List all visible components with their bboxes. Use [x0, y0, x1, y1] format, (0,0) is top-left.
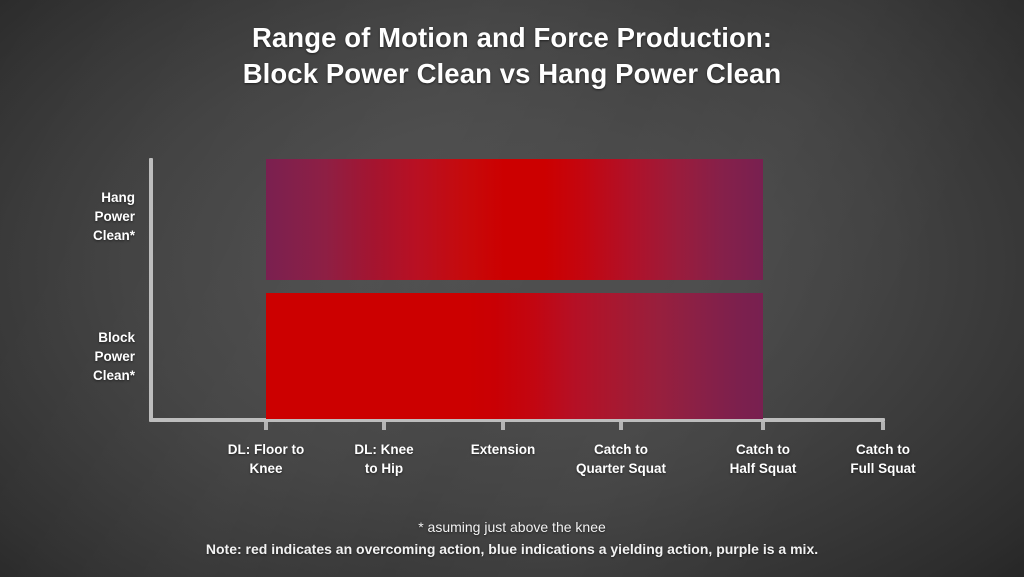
x-axis-tick — [619, 422, 623, 430]
x-axis-tick — [264, 422, 268, 430]
slide: Range of Motion and Force Production: Bl… — [0, 0, 1024, 577]
x-axis-label-catch-to-half-squat: Catch to Half Squat — [693, 440, 833, 478]
x-axis-tick — [501, 422, 505, 430]
x-axis-label-catch-to-quarter-squat: Catch to Quarter Squat — [551, 440, 691, 478]
bar-hang-power-clean[interactable] — [266, 159, 763, 280]
footnotes: * asuming just above the knee Note: red … — [0, 516, 1024, 560]
bar-chart: Hang Power Clean* Block Power Clean* DL:… — [0, 0, 1024, 577]
bar-block-power-clean[interactable] — [266, 293, 763, 419]
x-axis-label-catch-to-full-squat: Catch to Full Squat — [813, 440, 953, 478]
x-axis-tick — [382, 422, 386, 430]
category-label-block-power-clean: Block Power Clean* — [20, 328, 135, 385]
x-axis-tick — [881, 422, 885, 430]
category-label-hang-power-clean: Hang Power Clean* — [20, 188, 135, 245]
x-axis-tick — [761, 422, 765, 430]
footnote-color-key: Note: red indicates an overcoming action… — [0, 538, 1024, 560]
footnote-asterisk: * asuming just above the knee — [0, 516, 1024, 538]
y-axis-line — [149, 158, 153, 421]
